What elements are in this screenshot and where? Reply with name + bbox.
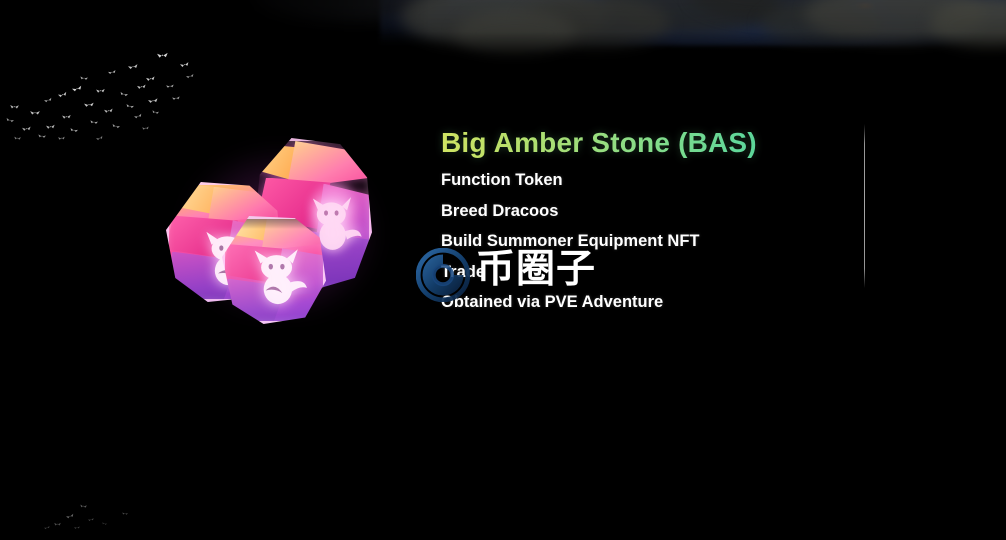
bird-icon — [84, 101, 94, 107]
bird-icon — [148, 97, 159, 104]
bird-icon — [172, 95, 180, 100]
bird-icon — [44, 97, 53, 103]
bird-icon — [134, 113, 143, 119]
bird-icon — [112, 123, 121, 129]
bird-icon — [80, 75, 88, 80]
bird-icon — [137, 83, 147, 89]
bird-icon — [90, 119, 99, 124]
bird-icon — [10, 104, 19, 109]
bird-icon — [54, 522, 61, 526]
bird-icon — [38, 133, 46, 138]
feature-item-0: Function Token — [441, 172, 861, 189]
bird-icon — [71, 85, 82, 93]
feature-item-3: Trade — [441, 264, 861, 281]
bird-icon — [96, 88, 105, 94]
item-info-panel: Big Amber Stone (BAS) Function Token Bre… — [441, 128, 861, 311]
vertical-divider — [864, 124, 865, 288]
bird-icon — [102, 521, 108, 525]
bird-icon — [88, 517, 95, 521]
bird-icon — [80, 504, 87, 509]
bird-icon — [152, 109, 160, 115]
bird-icon — [126, 103, 135, 109]
bird-icon — [128, 63, 139, 70]
bird-icon — [142, 126, 149, 131]
bird-icon — [30, 110, 40, 115]
bird-icon — [120, 91, 129, 97]
bird-icon — [70, 127, 79, 133]
screenshot-root: Big Amber Stone (BAS) Function Token Bre… — [0, 0, 1006, 540]
bird-icon — [104, 107, 114, 113]
feature-item-2: Build Summoner Equipment NFT — [441, 233, 861, 250]
bird-icon — [57, 91, 67, 99]
bird-icon — [58, 136, 65, 141]
bird-flock — [0, 40, 220, 140]
bird-icon — [157, 52, 168, 59]
bird-icon — [186, 73, 195, 79]
bird-icon — [44, 525, 51, 530]
bird-icon — [74, 526, 80, 530]
bird-icon — [146, 75, 156, 81]
feature-item-4: Obtained via PVE Adventure — [441, 294, 861, 311]
bird-icon — [122, 512, 128, 516]
page-title: Big Amber Stone (BAS) — [441, 128, 861, 158]
bird-icon — [108, 69, 117, 75]
bird-flock-lower — [24, 492, 164, 540]
amber-stone-artwork — [160, 132, 400, 322]
bird-icon — [180, 61, 190, 68]
bird-icon — [96, 135, 104, 141]
bird-icon — [166, 84, 174, 89]
bird-icon — [6, 117, 15, 123]
feature-item-1: Breed Dracoos — [441, 203, 861, 220]
bird-icon — [22, 125, 32, 131]
bird-icon — [46, 124, 55, 130]
bird-icon — [66, 513, 75, 519]
bird-icon — [14, 136, 21, 141]
bird-icon — [62, 114, 71, 120]
